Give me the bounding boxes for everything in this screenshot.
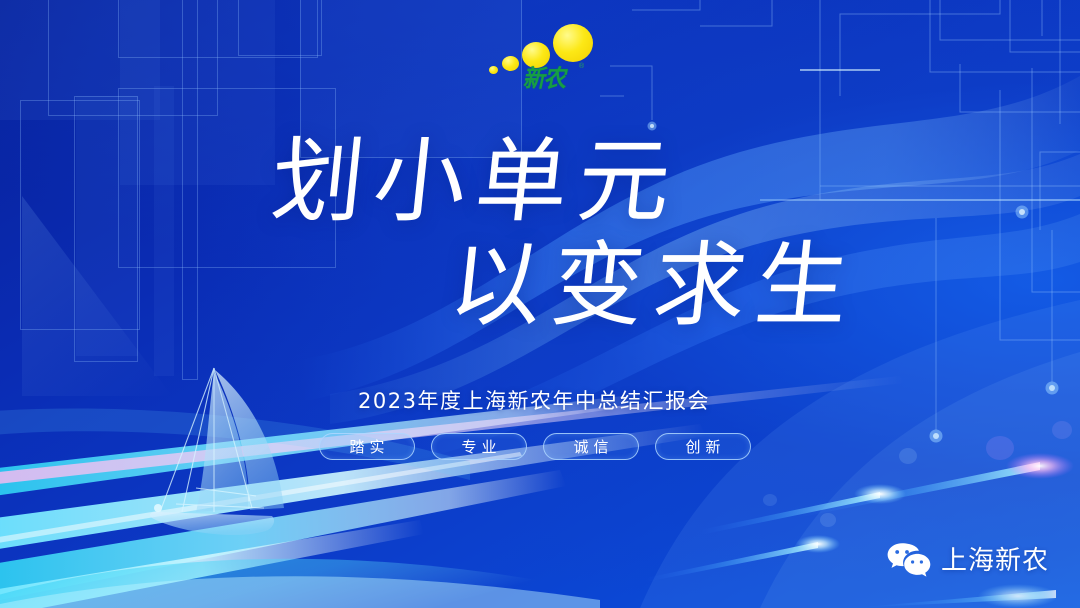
value-tag-row: 踏实 专业 诚信 创新 (0, 433, 1075, 460)
logo-wordmark: 新农 (511, 63, 581, 91)
logo-dot-4 (553, 24, 593, 62)
bokeh-dot (820, 513, 836, 527)
wechat-watermark: 上海新农 (886, 540, 1049, 577)
value-tag-1: 专业 (431, 433, 527, 460)
logo-registered-mark: ® (579, 63, 584, 70)
sailboat-bow-light (154, 504, 162, 512)
bokeh-dot (763, 494, 777, 506)
logo-dot-1 (489, 66, 498, 74)
title-line-1: 划小单元 (267, 136, 685, 228)
wechat-icon (886, 541, 932, 577)
poster-subtitle: 2023年度上海新农年中总结汇报会 (0, 385, 1080, 415)
shanghai-xinnong-logo: 新农 ® (487, 18, 597, 98)
title-line-2: 以变求生 (445, 240, 863, 332)
poster-canvas: 新农 ® 划小单元 以变求生 2023年度上海新农年中总结汇报会 踏实 专业 诚… (0, 0, 1080, 608)
value-tag-3: 创新 (655, 433, 751, 460)
sailboat-hull (150, 512, 274, 535)
comet-head-glow (854, 484, 906, 504)
value-tag-2: 诚信 (543, 433, 639, 460)
watermark-label: 上海新农 (941, 540, 1049, 577)
comet-head-glow (796, 535, 840, 553)
subtitle-text: 2023年度上海新农年中总结汇报会 (358, 385, 710, 415)
comet-head-glow (978, 584, 1058, 608)
value-tag-0: 踏实 (319, 433, 415, 460)
